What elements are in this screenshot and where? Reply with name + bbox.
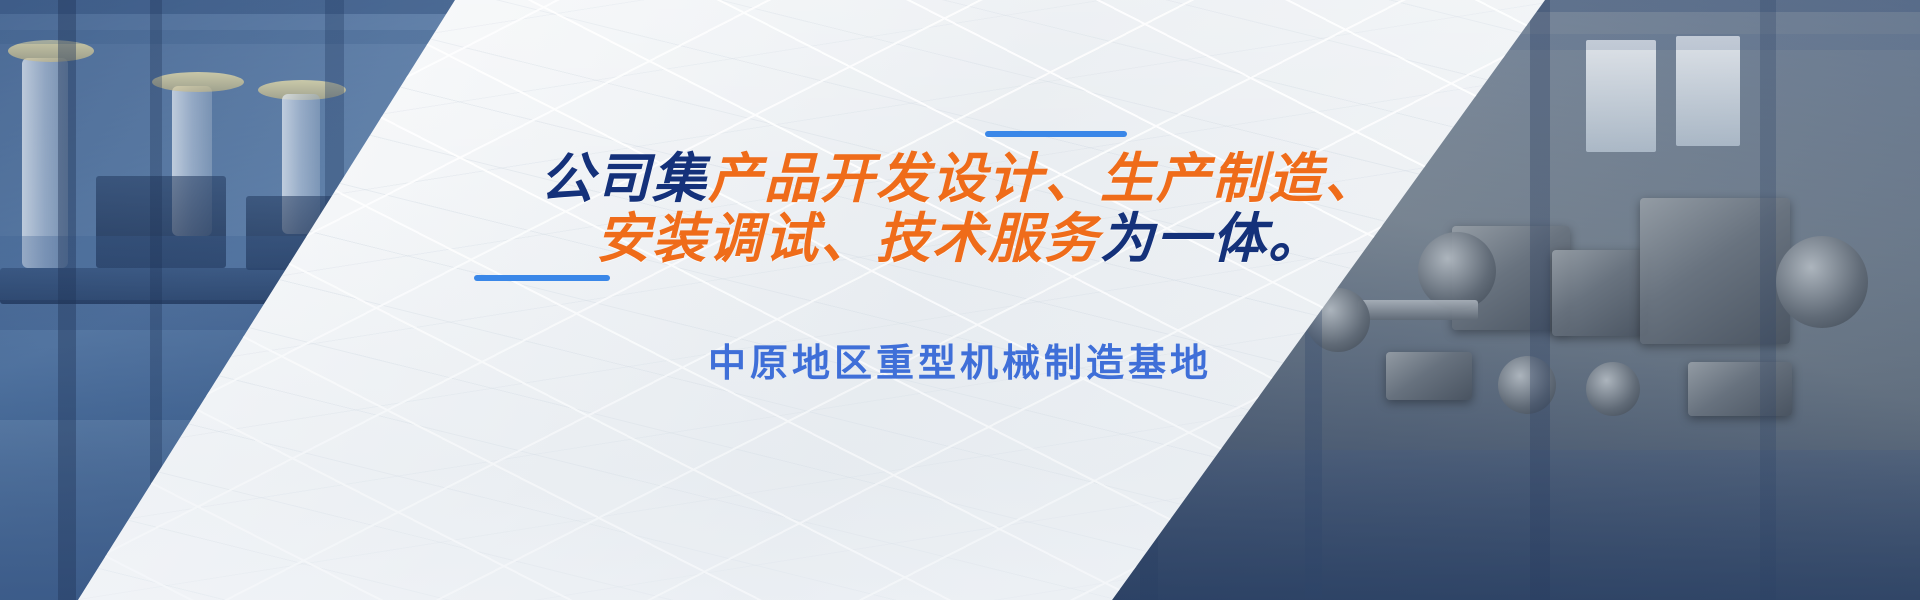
machinery-tank-cap <box>8 40 94 62</box>
factory-floor-right <box>1100 450 1920 600</box>
drive-shaft <box>1358 300 1478 320</box>
machinery-tank-cap <box>152 72 244 92</box>
headline-line1-primary: 公司集 <box>540 149 708 209</box>
headline-line-2: 安装调试、技术服务为一体。 <box>0 212 1920 266</box>
machinery-tank-cap <box>258 80 346 100</box>
headline-line2-highlight: 安装调试、技术服务 <box>596 209 1100 269</box>
machinery-conveyor <box>0 268 300 304</box>
banner-subtitle: 中原地区重型机械制造基地 <box>0 345 1920 383</box>
hero-banner: 公司集产品开发设计、生产制造、 安装调试、技术服务为一体。 中原地区重型机械制造… <box>0 0 1920 600</box>
headline-line-1: 公司集产品开发设计、生产制造、 <box>0 152 1920 206</box>
accent-bar-bottom <box>474 275 610 281</box>
factory-window <box>1676 36 1740 146</box>
headline-line2-primary: 为一体。 <box>1100 209 1324 269</box>
accent-bar-top <box>985 131 1127 137</box>
headline-line1-highlight: 产品开发设计、生产制造、 <box>708 149 1380 209</box>
factory-window <box>1586 40 1656 152</box>
